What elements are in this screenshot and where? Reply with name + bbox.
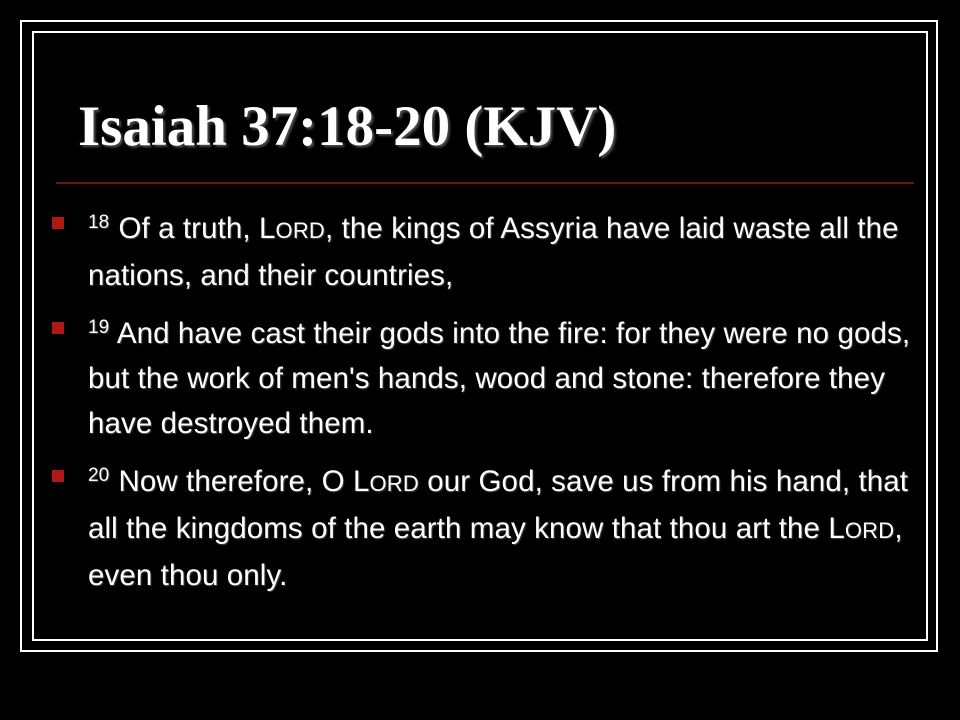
bullet-item: 19 And have cast their gods into the fir… [46,305,914,446]
square-bullet-icon [52,322,64,334]
verse-text-part: And have cast their gods into the fire: … [88,317,910,440]
presentation-slide: Isaiah 37:18-20 (KJV) 18 Of a truth, LOR… [0,0,960,720]
smallcaps-cap: L [353,465,370,498]
title-divider-rule [56,182,914,184]
verse-number: 19 [88,317,110,338]
square-bullet-icon [52,470,64,482]
verse-number: 18 [88,212,110,233]
smallcaps-rest: ORD [369,471,419,496]
bullet-item: 18 Of a truth, LORD, the kings of Assyri… [46,200,914,298]
verse-text-part: Now therefore, O [118,465,353,498]
square-bullet-icon [52,217,64,229]
verse-number: 20 [88,465,110,486]
slide-body: 18 Of a truth, LORD, the kings of Assyri… [46,200,914,605]
smallcaps-rest: ORD [276,218,326,243]
bullet-item: 20 Now therefore, O LORD our God, save u… [46,453,914,598]
smallcaps-cap: L [828,512,845,545]
smallcaps-rest: ORD [845,518,895,543]
slide-title: Isaiah 37:18-20 (KJV) [78,96,918,158]
smallcaps-cap: L [259,212,276,245]
verse-text-part: Of a truth, [118,212,259,245]
